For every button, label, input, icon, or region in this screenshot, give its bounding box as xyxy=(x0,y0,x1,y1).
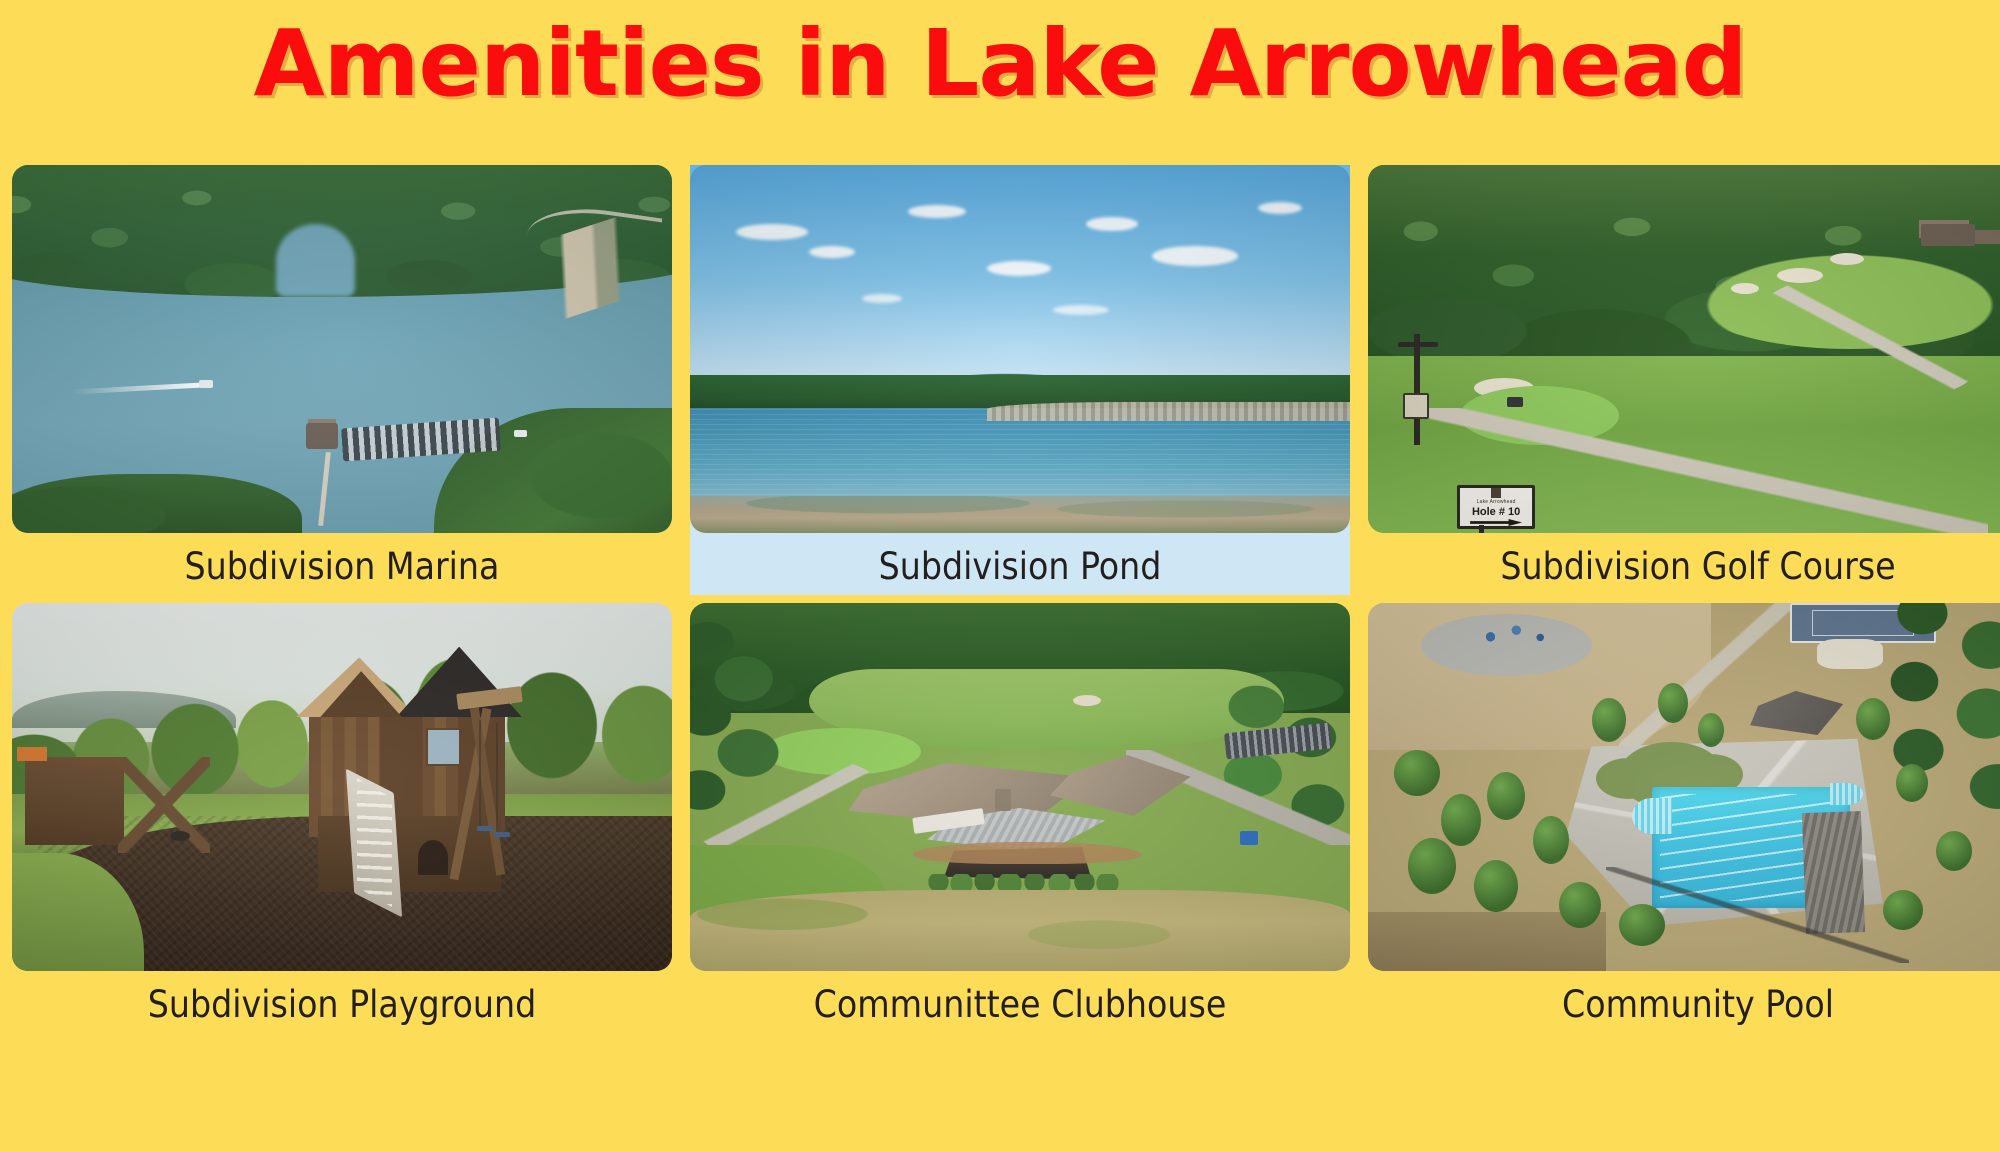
swing-chain-shape xyxy=(496,723,498,832)
stone-chimney-shape xyxy=(995,789,1011,811)
tree-shape xyxy=(1533,816,1569,864)
tree-shape xyxy=(1698,713,1724,747)
tree-shape xyxy=(1883,890,1923,930)
mulch-bed-shape xyxy=(913,842,1141,863)
amenity-caption-clubhouse: Communittee Clubhouse xyxy=(690,971,1350,1033)
tree-shape xyxy=(1487,772,1525,820)
climbing-ladder-shape xyxy=(357,778,392,907)
amenities-grid: Subdivision Marina S xyxy=(12,165,1988,1032)
amenity-card-marina[interactable]: Subdivision Marina xyxy=(12,165,672,595)
tree-shape xyxy=(1441,794,1481,846)
marina-photo xyxy=(12,165,672,533)
lake-water-shape xyxy=(690,408,1350,500)
cloud-shape xyxy=(862,294,902,303)
amenity-caption-playground: Subdivision Playground xyxy=(12,971,672,1033)
tree-shape xyxy=(1936,831,1972,871)
amenity-caption-pool: Community Pool xyxy=(1368,971,2000,1033)
sign-hole-label: Hole # 10 xyxy=(1472,506,1520,518)
fort-base-shape xyxy=(318,816,501,892)
amenities-poster: Amenities in Lake Arrowhead Subdivision … xyxy=(0,0,2000,1152)
golf-course-photo: Lake Arrowhead Hole # 10 xyxy=(1368,165,2000,533)
amenity-card-playground[interactable]: Subdivision Playground xyxy=(12,603,672,1033)
dry-field-shape xyxy=(690,890,1350,971)
sign-subtitle: Lake Arrowhead xyxy=(1477,499,1516,505)
cloud-shape xyxy=(1053,305,1109,315)
cloud-shape xyxy=(1152,246,1238,266)
amenity-card-pool[interactable]: Community Pool xyxy=(1368,603,2000,1033)
amenity-card-clubhouse[interactable]: Communittee Clubhouse xyxy=(690,603,1350,1033)
community-pool-photo xyxy=(1368,603,2000,971)
cloud-shape xyxy=(1086,217,1138,231)
tee-marker-post-shape xyxy=(1414,334,1420,444)
pool-corner-steps-shape xyxy=(1830,783,1863,805)
swing-seat-shape xyxy=(494,832,510,837)
amenity-caption-golf-course: Subdivision Golf Course xyxy=(1368,533,2000,595)
sand-bunker-shape xyxy=(1731,283,1759,294)
motorboat-shape xyxy=(199,380,213,388)
playground-equipment-shape xyxy=(1474,617,1566,650)
pool-entry-steps-shape xyxy=(1632,798,1672,835)
pond-photo xyxy=(690,165,1350,533)
fort-window-shape xyxy=(426,728,461,766)
foreground-forest-left-shape xyxy=(12,474,302,533)
sand-bunker-shape xyxy=(1073,695,1101,706)
secondary-swing-frame-shape xyxy=(118,757,210,853)
secondary-play-structure-shape xyxy=(25,757,124,845)
hole-direction-sign: Lake Arrowhead Hole # 10 xyxy=(1457,485,1535,529)
amenity-card-golf-course[interactable]: Lake Arrowhead Hole # 10 Subdivision Gol… xyxy=(1368,165,2000,595)
dock-house-shape xyxy=(306,423,338,449)
clubhouse-homes-shape xyxy=(1921,224,1975,246)
play-fort-structure xyxy=(296,647,514,919)
foreground-grass-shape xyxy=(690,518,1350,533)
cloud-shape xyxy=(809,246,855,258)
boat-wake-shape xyxy=(71,382,203,394)
sign-post-shape xyxy=(1479,525,1484,533)
tree-shape xyxy=(1394,750,1440,796)
cloud-shape xyxy=(987,261,1051,276)
amenity-caption-pond: Subdivision Pond xyxy=(690,533,1350,595)
swing-chain-shape xyxy=(479,720,481,826)
cloud-shape xyxy=(736,224,808,240)
amenity-card-pond[interactable]: Subdivision Pond xyxy=(690,165,1350,595)
tire-swing-shape xyxy=(170,831,190,841)
clubhouse-building xyxy=(848,750,1204,882)
second-boat-shape xyxy=(514,430,527,437)
dock-walkway-shape xyxy=(318,452,331,526)
playground-photo xyxy=(12,603,672,971)
tree-shape xyxy=(1619,904,1665,946)
cloud-shape xyxy=(1258,202,1302,214)
fort-crawl-opening-shape xyxy=(418,840,448,875)
tee-number-plaque-shape xyxy=(1403,393,1429,419)
amenity-caption-marina: Subdivision Marina xyxy=(12,533,672,595)
page-title: Amenities in Lake Arrowhead xyxy=(253,14,1746,113)
right-wing-roof-shape xyxy=(1041,755,1191,816)
lake-cove-shape xyxy=(276,224,355,298)
shrub-row-shape xyxy=(927,874,1119,890)
swing-seat-shape xyxy=(477,826,493,831)
upper-cart-path-shape xyxy=(1751,275,1989,400)
page-title-container: Amenities in Lake Arrowhead xyxy=(0,14,2000,113)
tree-shape xyxy=(1474,860,1518,912)
rocky-shore-shape xyxy=(987,402,1350,420)
tree-shape xyxy=(1408,838,1456,894)
clubhouse-photo xyxy=(690,603,1350,971)
course-logo-icon xyxy=(1491,488,1501,498)
golf-cart-shape xyxy=(1507,397,1523,407)
blue-container-shape xyxy=(1240,831,1258,845)
